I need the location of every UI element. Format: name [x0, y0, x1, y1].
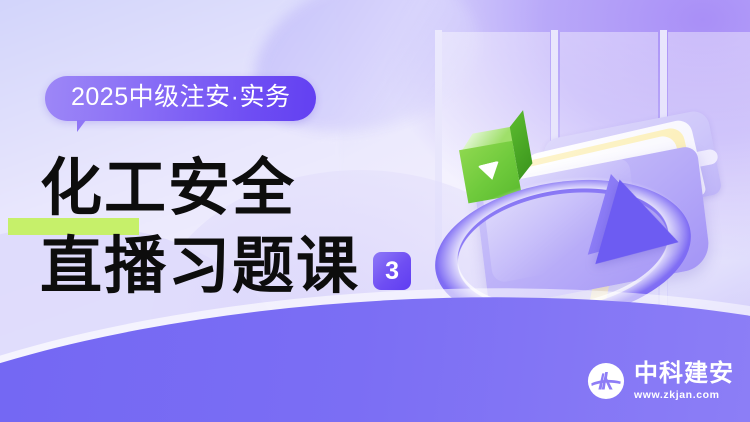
zkjan-circle-mark-icon: [587, 362, 625, 400]
brand-logo: 中科建安 www.zkjan.com: [587, 362, 734, 401]
brand-logo-text: 中科建安 www.zkjan.com: [634, 362, 734, 401]
title-line-two-row: 直播习题课 3: [40, 228, 411, 306]
episode-number-badge: 3: [373, 252, 411, 290]
title-line-one: 化工安全: [40, 150, 411, 228]
course-promo-banner: 2025中级注安·实务 化工安全 直播习题课 3 中科建安 www.zkjan.…: [0, 0, 750, 422]
title-line-two: 直播习题课: [40, 228, 360, 306]
title-block: 化工安全 直播习题课 3: [40, 150, 411, 306]
brand-name: 中科建安: [634, 362, 734, 386]
course-category-badge: 2025中级注安·实务: [45, 76, 316, 121]
brand-website: www.zkjan.com: [634, 390, 734, 401]
